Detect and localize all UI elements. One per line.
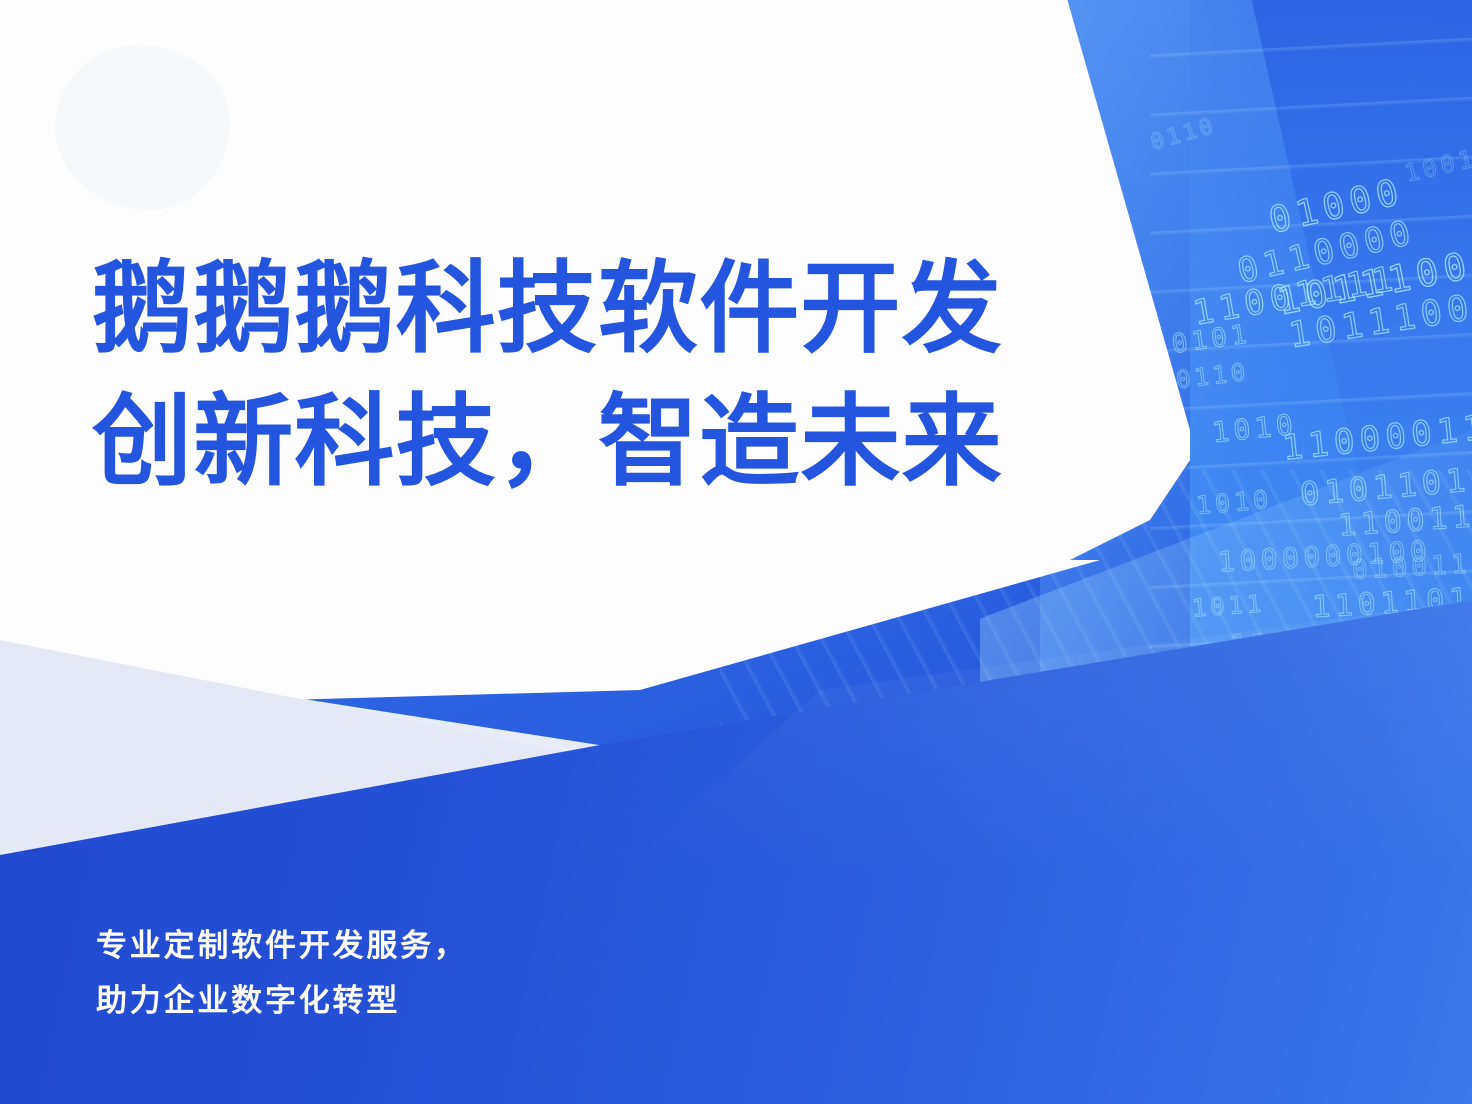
subtitle: 专业定制软件开发服务， 助力企业数字化转型 [96,918,468,1028]
poster-canvas: 0100001100001011100110011111011100010101… [0,0,1472,1104]
headline: 鹅鹅鹅科技软件开发 创新科技，智造未来 [92,243,1092,509]
headline-line-1: 鹅鹅鹅科技软件开发 [92,243,1092,376]
subtitle-line-1: 专业定制软件开发服务， [96,918,468,973]
subtitle-line-2: 助力企业数字化转型 [96,973,468,1028]
headline-line-2: 创新科技，智造未来 [92,376,1092,509]
